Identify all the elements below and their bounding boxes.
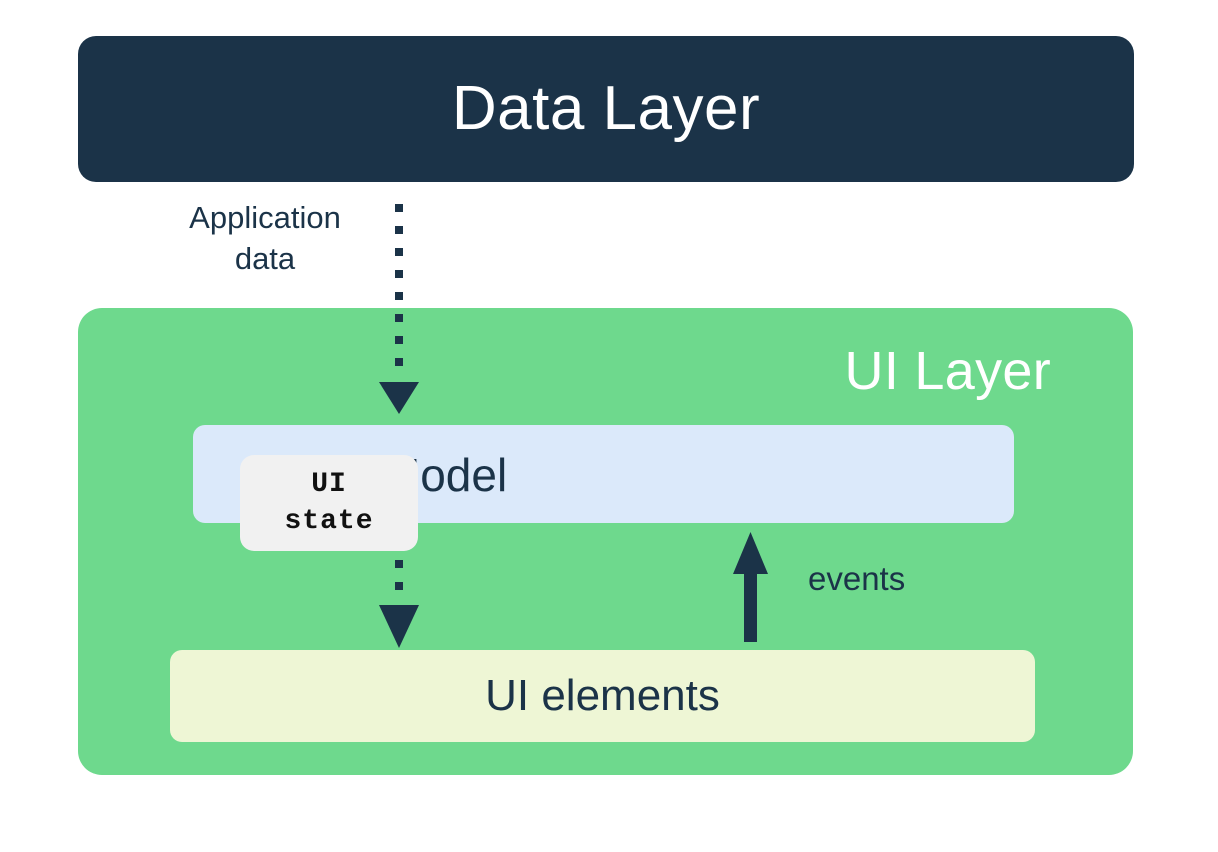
application-data-label-line2: data — [145, 239, 385, 280]
events-label: events — [808, 562, 905, 595]
ui-state-badge: UI state — [240, 455, 418, 551]
ui-elements-label: UI elements — [485, 674, 720, 718]
ui-state-badge-line2: state — [284, 503, 373, 540]
application-data-label: Application data — [145, 198, 385, 280]
ui-elements-box: UI elements — [170, 650, 1035, 742]
data-layer-box: Data Layer — [78, 36, 1134, 182]
architecture-diagram: Data Layer Application data UI Layer Vie… — [0, 0, 1218, 852]
application-data-label-line1: Application — [145, 198, 385, 239]
ui-layer-title: UI Layer — [845, 344, 1051, 398]
data-layer-title: Data Layer — [452, 78, 760, 140]
ui-state-badge-line1: UI — [311, 466, 347, 503]
